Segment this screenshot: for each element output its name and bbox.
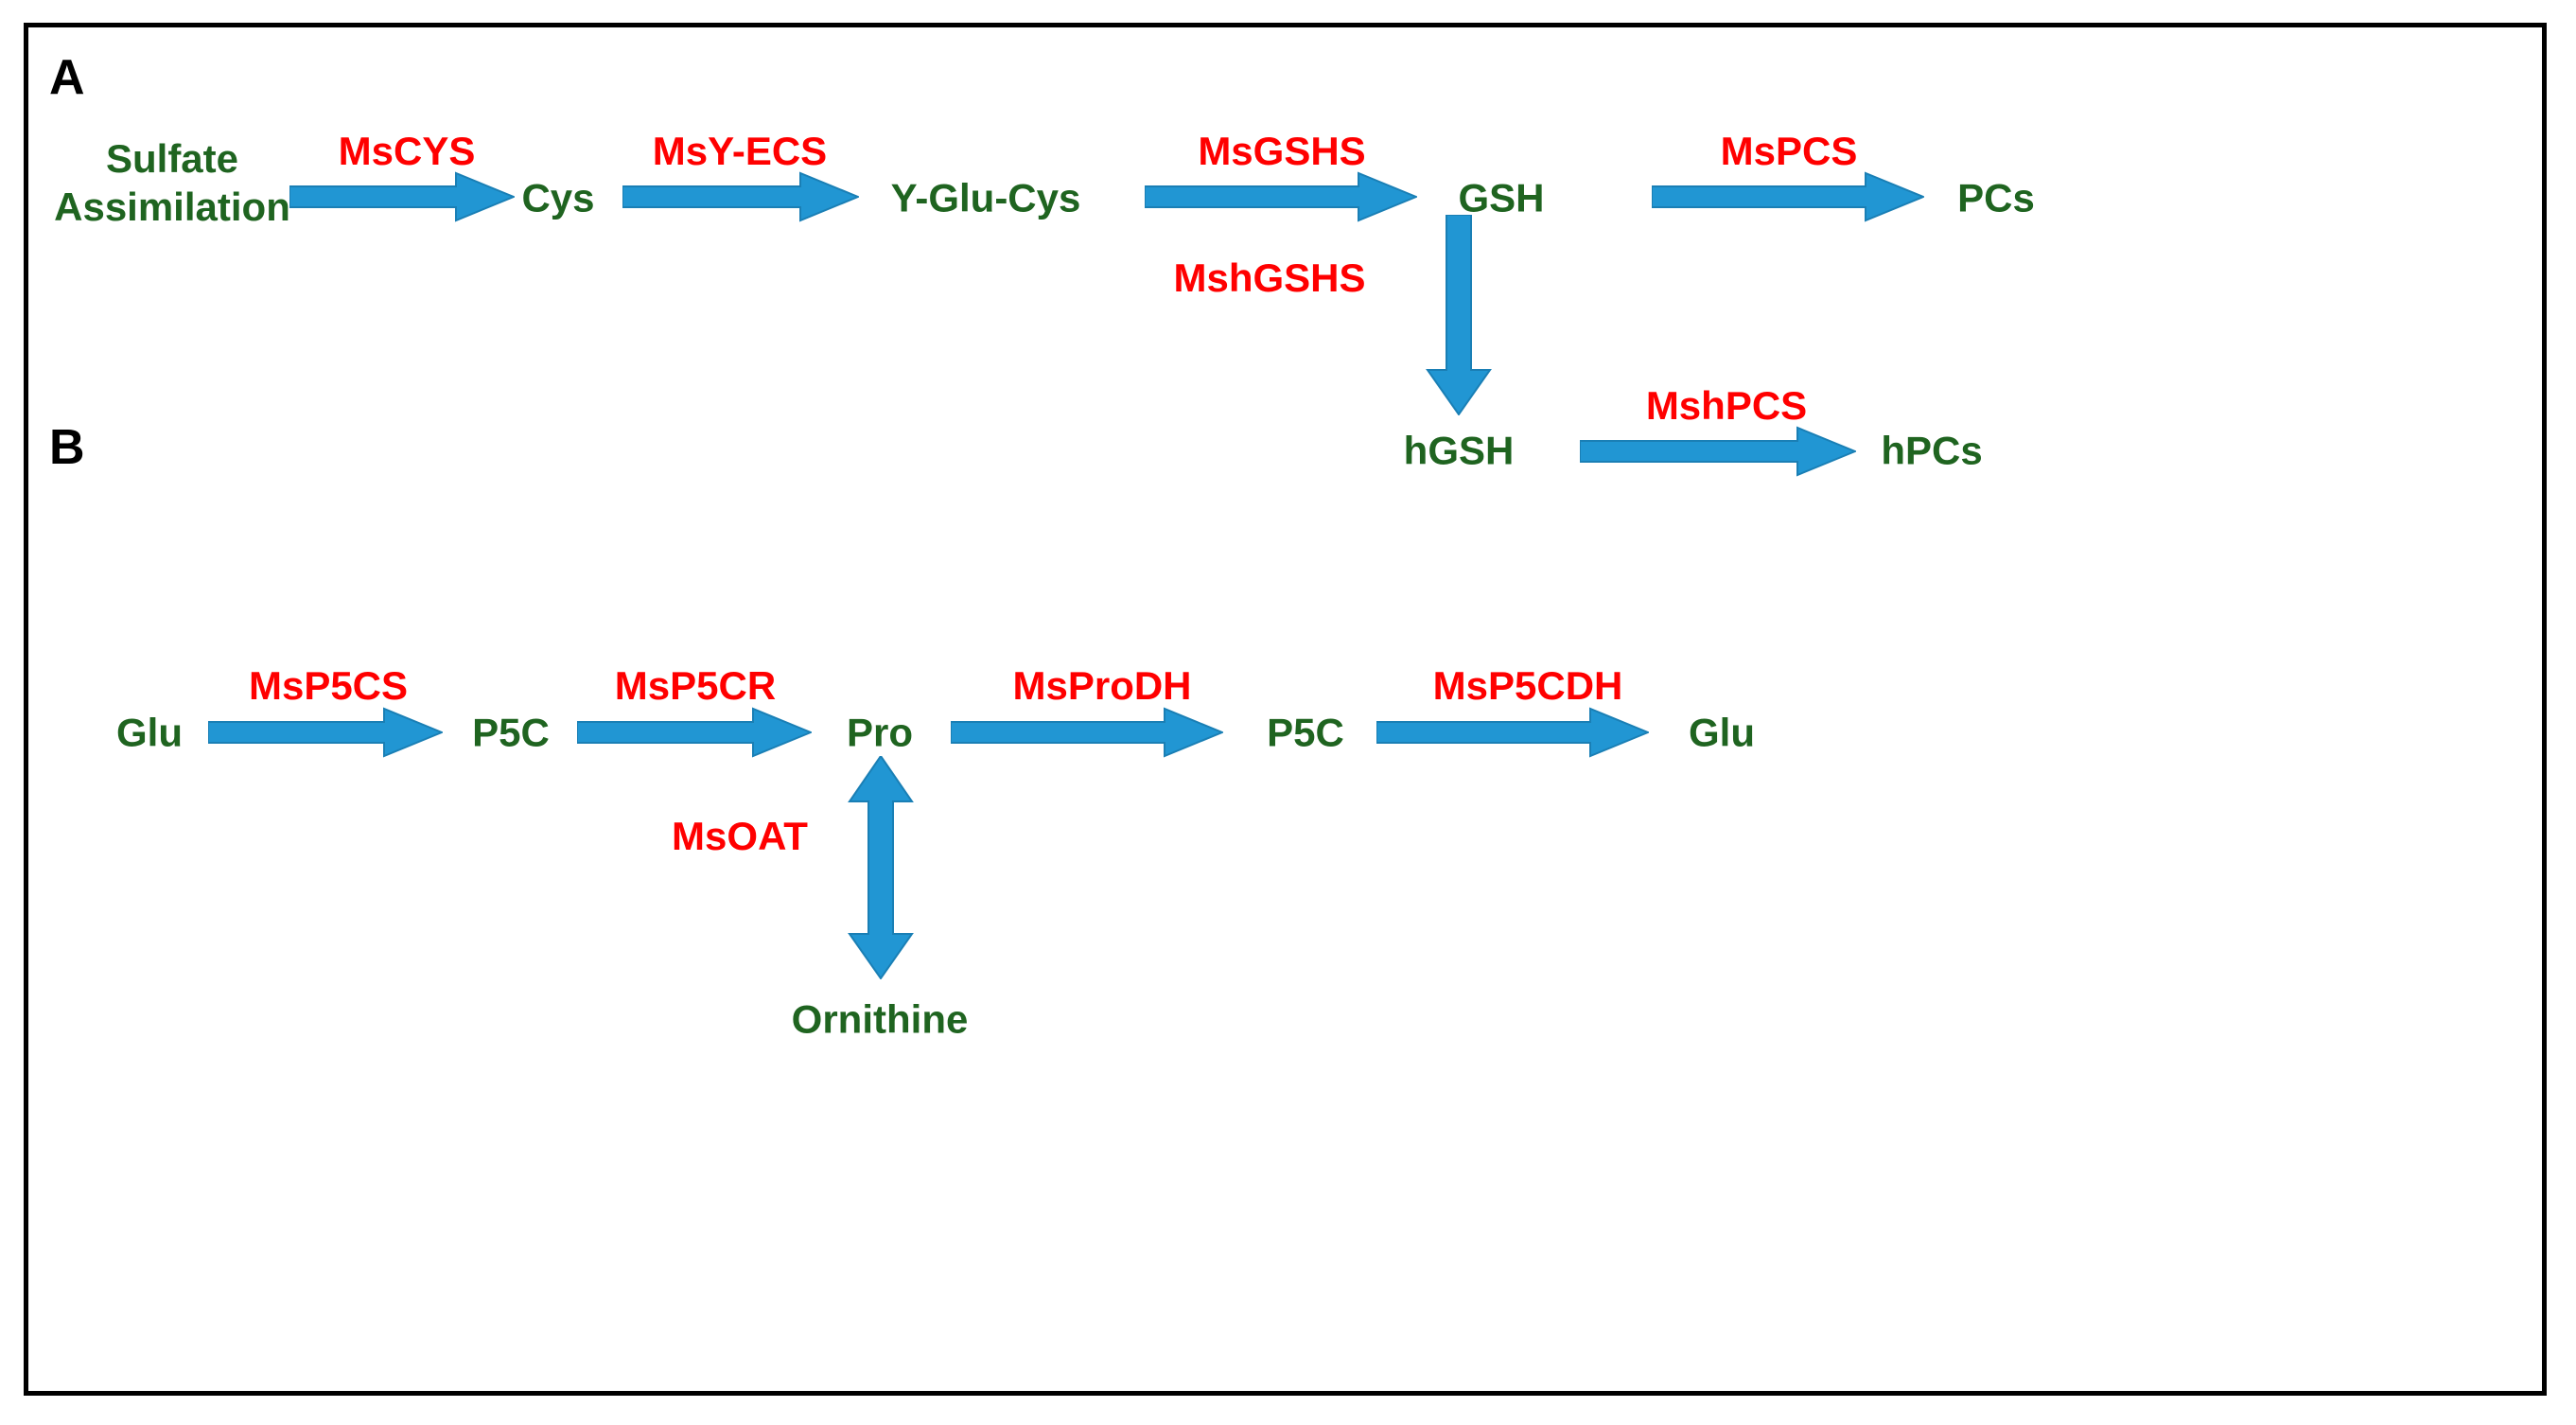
arrow-pro-to-p5c-2: [951, 707, 1223, 758]
enzyme-ms-gamma-ecs: MsΥ-ECS: [653, 132, 827, 171]
arrow-cys-to-gamma-glu-cys: [622, 171, 859, 222]
enzyme-mshpcs: MshPCS: [1646, 386, 1807, 426]
arrow-hgsh-to-hpcs: [1580, 426, 1856, 477]
node-sulfate-assimilation: Sulfate Assimilation: [44, 134, 300, 231]
enzyme-mspcs: MsPCS: [1721, 132, 1858, 171]
enzyme-msprodh: MsProDH: [1012, 666, 1191, 706]
arrow-pro-ornithine-bidirectional: [848, 756, 914, 979]
enzyme-msp5cr: MsP5CR: [615, 666, 776, 706]
arrow-p5c-1-to-pro: [577, 707, 812, 758]
panel-b-label: B: [49, 423, 85, 472]
pathway-figure: A Sulfate Assimilation MsCYS Cys MsΥ-ECS…: [0, 0, 2576, 1425]
node-ornithine: Ornithine: [792, 996, 969, 1041]
figure-frame: A Sulfate Assimilation MsCYS Cys MsΥ-ECS…: [24, 23, 2547, 1396]
node-p5c-1: P5C: [472, 710, 550, 754]
node-gsh: GSH: [1458, 175, 1544, 220]
arrow-gamma-glu-cys-to-gsh: [1145, 171, 1417, 222]
arrow-gamma-glu-cys-to-hgsh: [1426, 215, 1492, 415]
node-cys: Cys: [521, 175, 594, 220]
panel-a-label: A: [49, 53, 85, 102]
enzyme-mscys: MsCYS: [339, 132, 476, 171]
enzyme-msoat: MsOAT: [672, 817, 808, 856]
node-sulfate-assimilation-line1: Sulfate: [44, 134, 300, 183]
node-pcs: PCs: [1957, 175, 2035, 220]
node-p5c-2: P5C: [1267, 710, 1344, 754]
enzyme-msgshs: MsGSHS: [1198, 132, 1365, 171]
node-hpcs: hPCs: [1881, 428, 1982, 472]
node-sulfate-assimilation-line2: Assimilation: [44, 183, 300, 231]
enzyme-mshgshs: MshGSHS: [1173, 258, 1365, 298]
node-pro: Pro: [847, 710, 913, 754]
node-glu-start: Glu: [116, 710, 183, 754]
node-glu-end: Glu: [1689, 710, 1755, 754]
enzyme-msp5cdh: MsP5CDH: [1433, 666, 1623, 706]
arrow-sulfate-to-cys: [289, 171, 515, 222]
enzyme-msp5cs: MsP5CS: [249, 666, 408, 706]
node-gamma-glu-cys: Υ-Glu-Cys: [891, 175, 1081, 220]
arrow-glu-to-p5c-1: [208, 707, 443, 758]
node-hgsh: hGSH: [1404, 428, 1515, 472]
arrow-gsh-to-pcs: [1652, 171, 1924, 222]
arrow-p5c-2-to-glu: [1376, 707, 1649, 758]
